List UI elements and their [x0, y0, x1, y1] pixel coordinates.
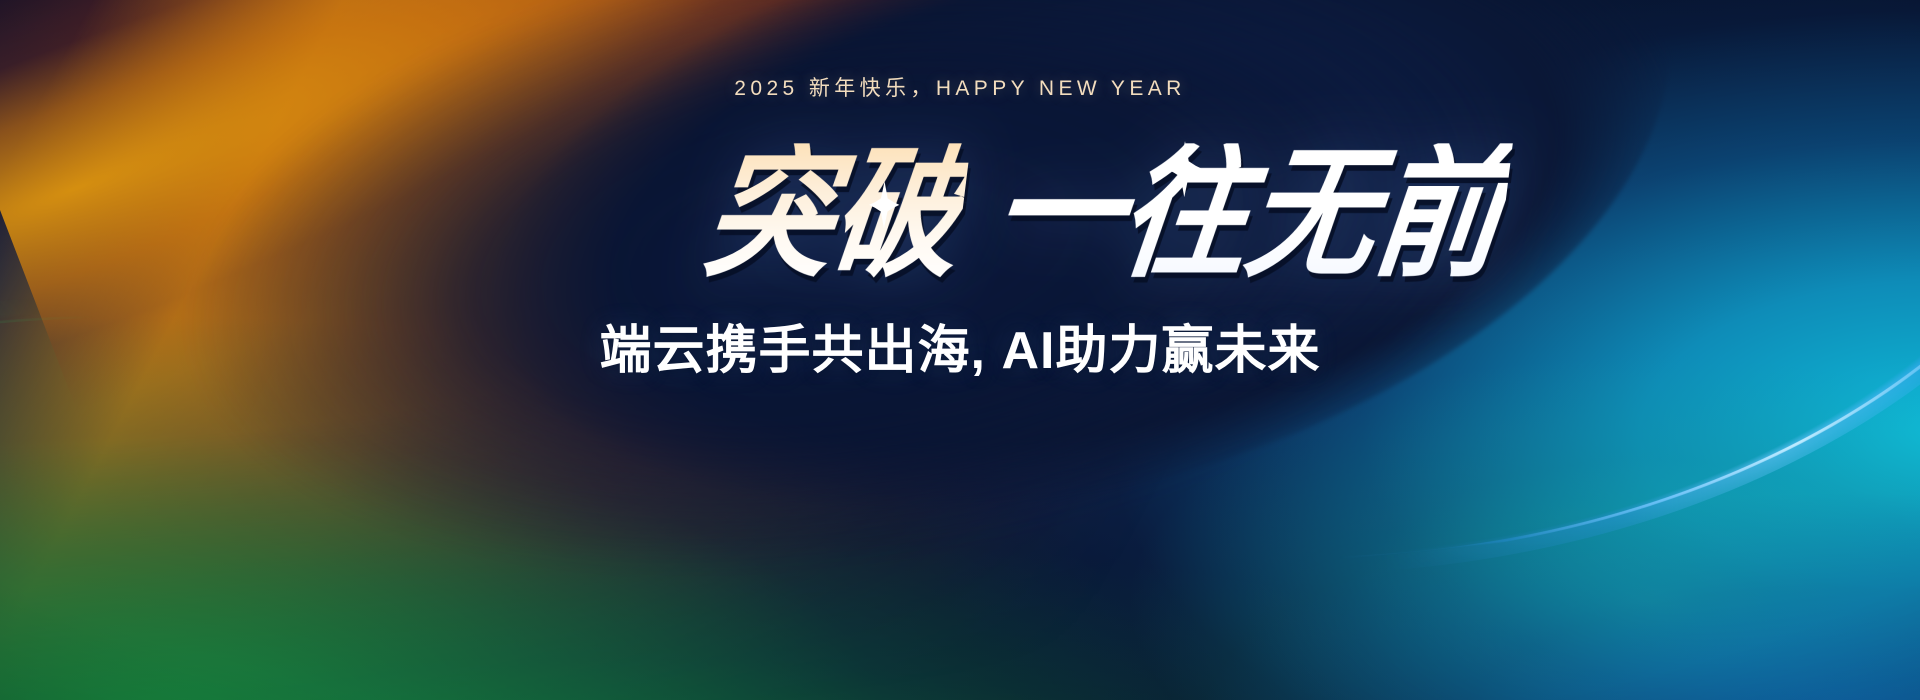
- subtitle-text: 端云携手共出海, AI助力赢未来: [600, 323, 1321, 380]
- new-year-hero-banner: 2025 新年快乐，HAPPY NEW YEAR 创变 突破 一往无前 端云携手…: [0, 0, 1920, 700]
- banner-content: 2025 新年快乐，HAPPY NEW YEAR 创变 突破 一往无前 端云携手…: [0, 0, 1920, 700]
- eyebrow-text: 2025 新年快乐，HAPPY NEW YEAR: [734, 78, 1185, 99]
- headline-segment-2: 突破: [695, 143, 971, 286]
- headline: 创变 突破 一往无前: [407, 143, 1513, 286]
- headline-segment-1: 创变: [407, 143, 683, 286]
- headline-segment-3: 一往无前: [983, 143, 1513, 286]
